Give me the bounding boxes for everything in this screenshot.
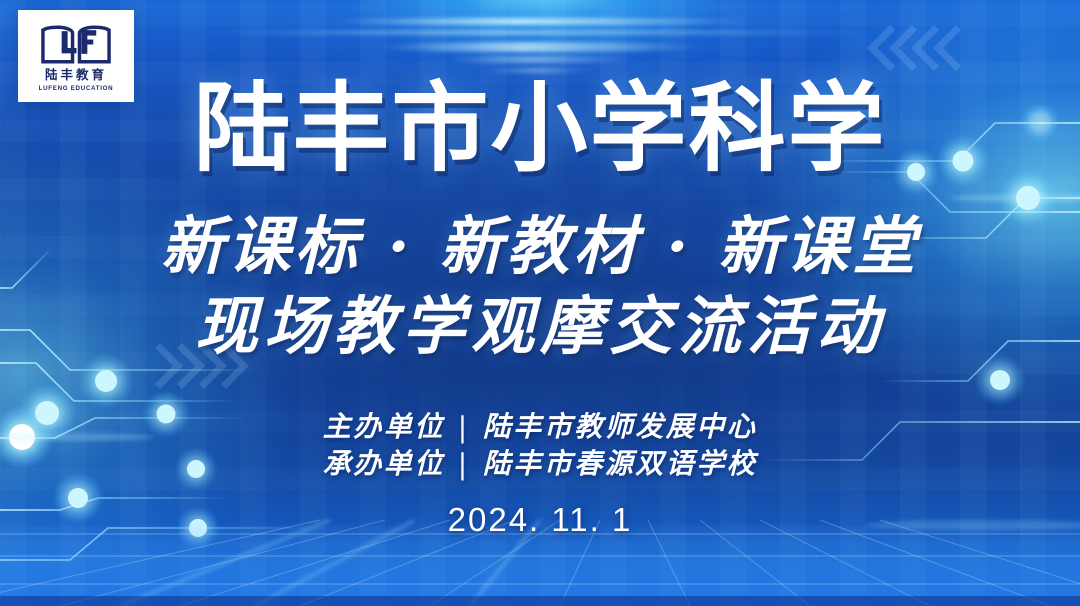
- organizer-value: 陆丰市教师发展中心: [483, 410, 758, 443]
- event-poster: 陆丰教育 LUFENG EDUCATION 陆丰市小学科学 新课标 · 新教材 …: [0, 0, 1080, 606]
- page-title: 陆丰市小学科学: [0, 80, 1080, 177]
- co-organizer-separator: |: [445, 451, 483, 479]
- co-organizer-row: 承办单位|陆丰市春源双语学校: [0, 450, 1080, 478]
- subtitle-line-1: 新课标 · 新教材 · 新课堂: [0, 215, 1080, 278]
- organizer-separator: |: [445, 414, 483, 442]
- event-date: 2024. 11. 1: [0, 503, 1080, 536]
- subtitle-line-2: 现场教学观摩交流活动: [0, 295, 1080, 358]
- organizer-label: 主办单位: [323, 410, 445, 443]
- co-organizer-label: 承办单位: [323, 447, 445, 480]
- poster-content: 陆丰市小学科学 新课标 · 新教材 · 新课堂 现场教学观摩交流活动 主办单位|…: [0, 0, 1080, 606]
- organizer-row: 主办单位|陆丰市教师发展中心: [0, 413, 1080, 441]
- co-organizer-value: 陆丰市春源双语学校: [483, 447, 758, 480]
